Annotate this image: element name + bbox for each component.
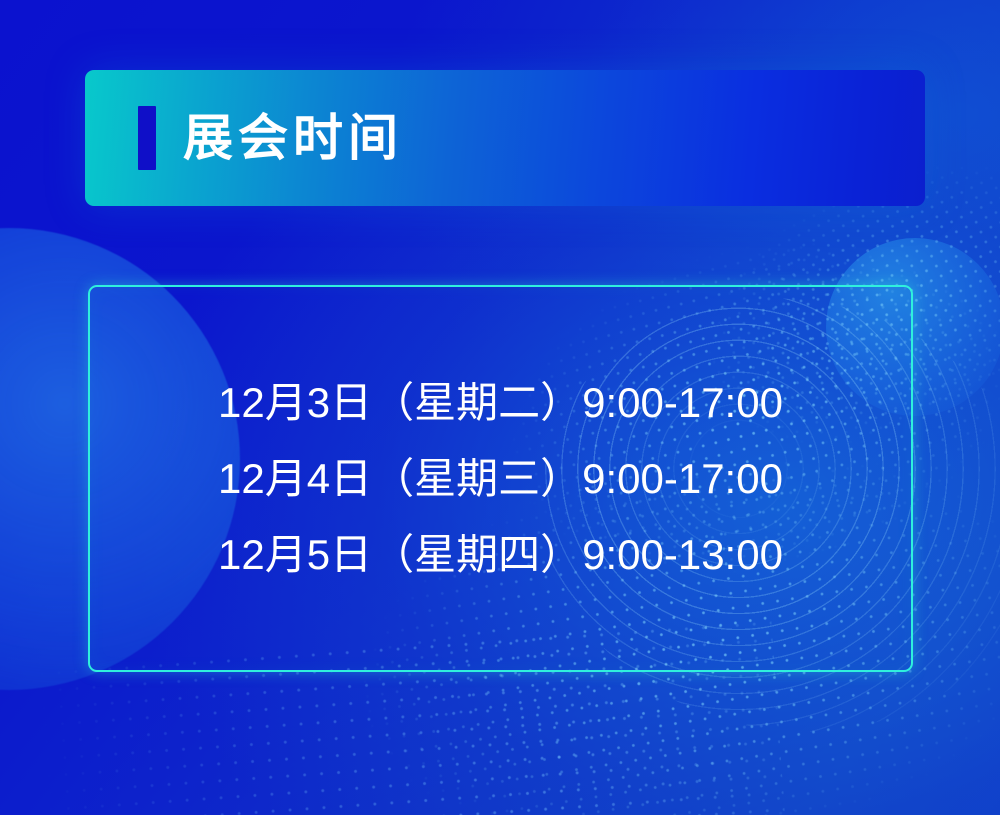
- list-item: 12月4日（星期三）9:00-17:00: [90, 441, 911, 517]
- section-header-bar: 展会时间: [85, 70, 925, 206]
- schedule-frame: 12月3日（星期二）9:00-17:00 12月4日（星期三）9:00-17:0…: [88, 285, 913, 672]
- page-title: 展会时间: [183, 113, 403, 163]
- list-item: 12月5日（星期四）9:00-13:00: [90, 517, 911, 593]
- poster-canvas: 展会时间 12月3日（星期二）9:00-17:00 12月4日（星期三）9:00…: [0, 0, 1000, 815]
- list-item: 12月3日（星期二）9:00-17:00: [90, 365, 911, 441]
- schedule-list: 12月3日（星期二）9:00-17:00 12月4日（星期三）9:00-17:0…: [90, 365, 911, 593]
- title-accent-bar: [138, 106, 156, 170]
